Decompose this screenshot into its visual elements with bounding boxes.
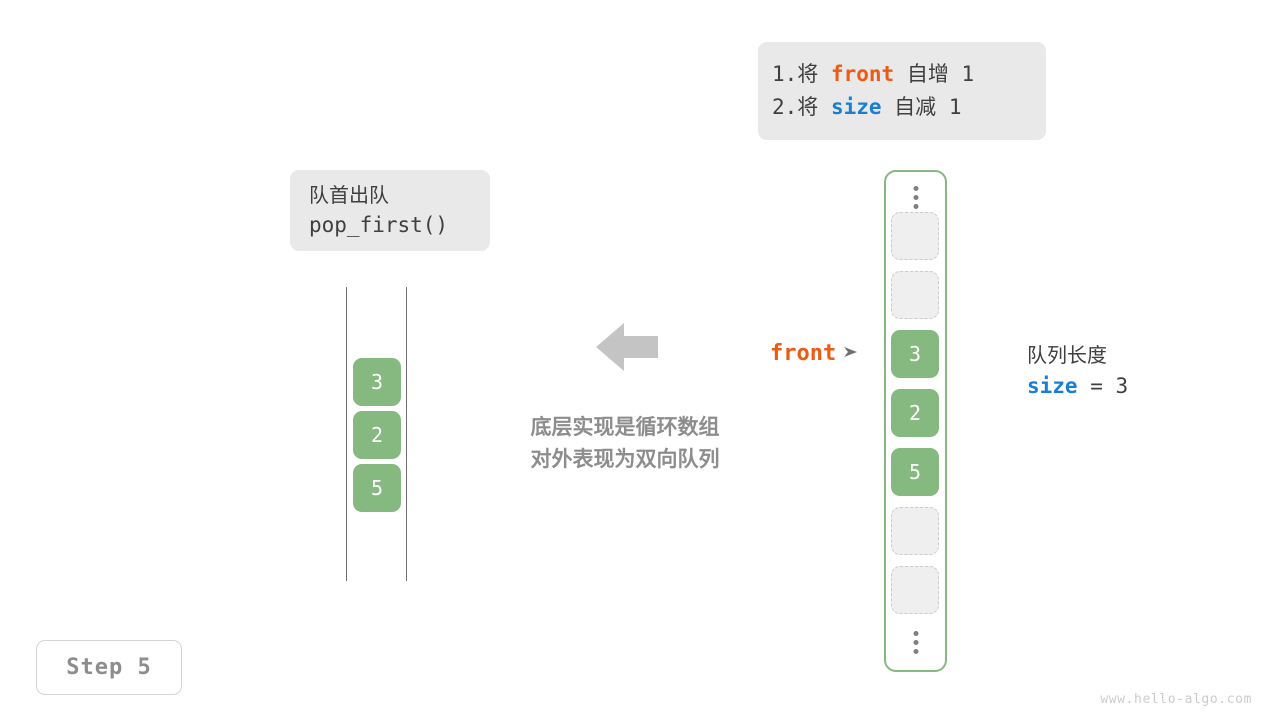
- front-pointer: front: [770, 341, 859, 366]
- queue-cell-2-value: 5: [371, 476, 383, 500]
- op-line-2-prefix: 将: [797, 95, 831, 119]
- array-cell-1: [891, 271, 939, 319]
- op-line-2-suffix: 自减 1: [882, 95, 962, 119]
- flow-arrow-left-icon: [596, 322, 658, 372]
- queue-cell-1: 2: [353, 411, 401, 459]
- operation-note-line-2: 2.将 size 自减 1: [772, 91, 1046, 124]
- diagram-caption: 底层实现是循环数组 对外表现为双向队列: [500, 412, 750, 476]
- size-info-equals: = 3: [1078, 374, 1129, 398]
- step-badge-label: Step 5: [66, 655, 151, 680]
- caption-line-2: 对外表现为双向队列: [500, 444, 750, 476]
- queue-cell-0-value: 3: [371, 370, 383, 394]
- array-cell-6: [891, 566, 939, 614]
- operation-note-box: 1.将 front 自增 1 2.将 size 自减 1: [758, 42, 1046, 140]
- array-cell-3: 2: [891, 389, 939, 437]
- size-info-expression: size = 3: [1027, 370, 1128, 403]
- circular-array-container: 3 2 5: [884, 170, 947, 672]
- queue-size-info: 队列长度 size = 3: [1027, 340, 1128, 403]
- array-cell-4: 5: [891, 448, 939, 496]
- op-line-2-keyword: size: [831, 95, 882, 119]
- pop-first-note-box: 队首出队 pop_first(): [290, 170, 490, 251]
- logical-queue-container: 3 2 5: [346, 287, 408, 581]
- front-pointer-arrow-icon: [843, 344, 859, 363]
- array-top-ellipsis-icon: [913, 186, 918, 209]
- array-bottom-ellipsis-icon: [913, 631, 918, 654]
- operation-note-line-1: 1.将 front 自增 1: [772, 58, 1046, 91]
- size-info-keyword: size: [1027, 374, 1078, 398]
- queue-cell-0: 3: [353, 358, 401, 406]
- queue-rail-left: [346, 287, 347, 581]
- op-line-1-suffix: 自增 1: [894, 62, 974, 86]
- pop-first-method: pop_first(): [309, 210, 490, 242]
- array-cell-2: 3: [891, 330, 939, 378]
- queue-cell-1-value: 2: [371, 423, 383, 447]
- array-cell-0: [891, 212, 939, 260]
- op-line-2-index: 2.: [772, 95, 797, 119]
- pop-first-title: 队首出队: [309, 180, 490, 210]
- op-line-1-prefix: 将: [797, 62, 831, 86]
- op-line-1-keyword: front: [831, 62, 894, 86]
- array-cell-5: [891, 507, 939, 555]
- array-cell-4-value: 5: [909, 460, 921, 484]
- caption-line-1: 底层实现是循环数组: [500, 412, 750, 444]
- front-pointer-label: front: [770, 341, 836, 366]
- watermark: www.hello-algo.com: [1100, 692, 1252, 707]
- diagram-canvas: 1.将 front 自增 1 2.将 size 自减 1 队首出队 pop_fi…: [0, 0, 1280, 720]
- queue-cell-2: 5: [353, 464, 401, 512]
- array-cell-3-value: 2: [909, 401, 921, 425]
- queue-rail-right: [406, 287, 407, 581]
- step-badge: Step 5: [36, 640, 182, 695]
- op-line-1-index: 1.: [772, 62, 797, 86]
- size-info-title: 队列长度: [1027, 340, 1128, 370]
- array-cell-2-value: 3: [909, 342, 921, 366]
